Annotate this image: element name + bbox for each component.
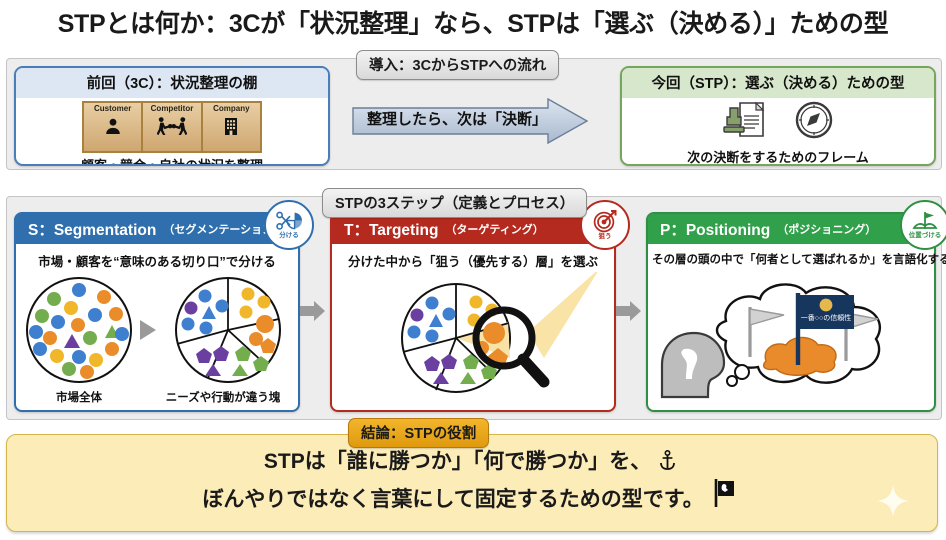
targeting-figure (332, 272, 610, 408)
shelf-cell-company: Company (203, 103, 260, 151)
conclusion-line-2-text: ぼんやりではなく言葉にして固定するための型です。 (202, 488, 703, 511)
conclusion-line-2: ぼんやりではなく言葉にして固定するための型です。 (6, 478, 936, 516)
connector-arrow-1 (300, 300, 326, 322)
next-stp-card-caption: 次の決断をするためのフレーム (622, 147, 934, 166)
step-header-targeting: T：Targeting （ターゲティング） (332, 214, 614, 244)
step-header-segmentation: S：Segmentation （セグメンテーション） (16, 214, 298, 244)
badge-label-segmentation: 分ける (279, 233, 299, 240)
next-stp-card: 今回（STP）：選ぶ（決める）ための型 (620, 66, 936, 166)
step-title-jp-positioning: （ポジショニング） (777, 221, 876, 237)
target-dart-icon: 狙う (580, 200, 630, 250)
three-c-shelf: Customer Competitor Company (82, 101, 262, 153)
prev-3c-card-header: 前回（3C）：状況整理の棚 (16, 68, 328, 98)
step-title-jp-targeting: （ターゲティング） (445, 221, 543, 237)
step-panel-targeting[interactable]: T：Targeting （ターゲティング） 狙う 分けた中から「狙う（優先する）… (330, 212, 616, 412)
stamp-document-icon (722, 100, 768, 145)
step-subtitle-targeting: 分けた中から「狙う（優先する）層」を選ぶ (332, 244, 614, 270)
step-subtitle-segmentation: 市場・顧客を“意味のある切り口”で分ける (16, 244, 298, 270)
sparkle-icon (876, 484, 910, 518)
transition-arrow-label: 整理したら、次は「決断」 (354, 108, 560, 129)
shelf-label-customer: Customer (94, 105, 131, 113)
anchor-icon (659, 452, 676, 475)
segmentation-figure (16, 272, 294, 396)
step-panel-positioning[interactable]: P：Positioning （ポジショニング） 位置づける その層の頭の中で「何… (646, 212, 936, 412)
next-stp-card-header: 今回（STP）：選ぶ（決める）ための型 (622, 68, 934, 98)
connector-arrow-2 (616, 300, 642, 322)
segmentation-fig-caption-2: ニーズや行動が違う塊 (154, 389, 292, 405)
compass-icon (794, 100, 834, 145)
scissors-pie-icon: 分ける (264, 200, 314, 250)
badge-label-positioning: 位置づける (909, 233, 942, 240)
steps-section-tab: STPの3ステップ（定義とプロセス） (322, 188, 587, 218)
conclusion-tab: 結論：STPの役割 (348, 418, 489, 448)
step-title-segmentation: S：Segmentation (28, 218, 156, 240)
prev-3c-card: 前回（3C）：状況整理の棚 Customer Competitor (14, 66, 330, 166)
step-title-positioning: P：Positioning (660, 218, 770, 240)
shelf-label-company: Company (213, 105, 249, 113)
conclusion-text: STPは「誰に勝つか」「何で勝つか」を、 ぼんやりではなく言葉にして固定するため… (6, 448, 936, 516)
step-panel-segmentation[interactable]: S：Segmentation （セグメンテーション） 分ける 市場・顧客を“意味… (14, 212, 300, 412)
step-subtitle-positioning: その層の頭の中で「何者として選ばれるか」を言語化する (648, 244, 934, 267)
conclusion-line-1: STPは「誰に勝つか」「何で勝つか」を、 (6, 448, 936, 478)
svg-text:一番○○の信頼性: 一番○○の信頼性 (801, 313, 851, 322)
shelf-cell-customer: Customer (84, 103, 143, 151)
shelf-label-competitor: Competitor (151, 105, 194, 113)
conclusion-line-1-text: STPは「誰に勝つか」「何で勝つか」を、 (264, 450, 651, 473)
building-icon (222, 113, 240, 139)
segmentation-fig-caption-1: 市場全体 (28, 389, 130, 405)
step-title-targeting: T：Targeting (344, 218, 438, 240)
prev-3c-card-caption: 顧客・競合・自社の状況を整理 (16, 155, 328, 166)
intro-section-tab: 導入：3CからSTPへの流れ (356, 50, 559, 80)
shelf-cell-competitor: Competitor (143, 103, 202, 151)
flag-icon (712, 490, 738, 513)
badge-label-targeting: 狙う (599, 234, 612, 241)
step-header-positioning: P：Positioning （ポジショニング） (648, 214, 934, 244)
positioning-figure: 一番○○の信頼性 (648, 269, 930, 405)
book-flag-icon: 位置づける (900, 200, 946, 250)
page-title: STPとは何か：3Cが「状況整理」なら、STPは「選ぶ（決める）」ための型 (0, 4, 946, 40)
boxers-icon (157, 113, 187, 139)
person-icon (103, 113, 123, 139)
